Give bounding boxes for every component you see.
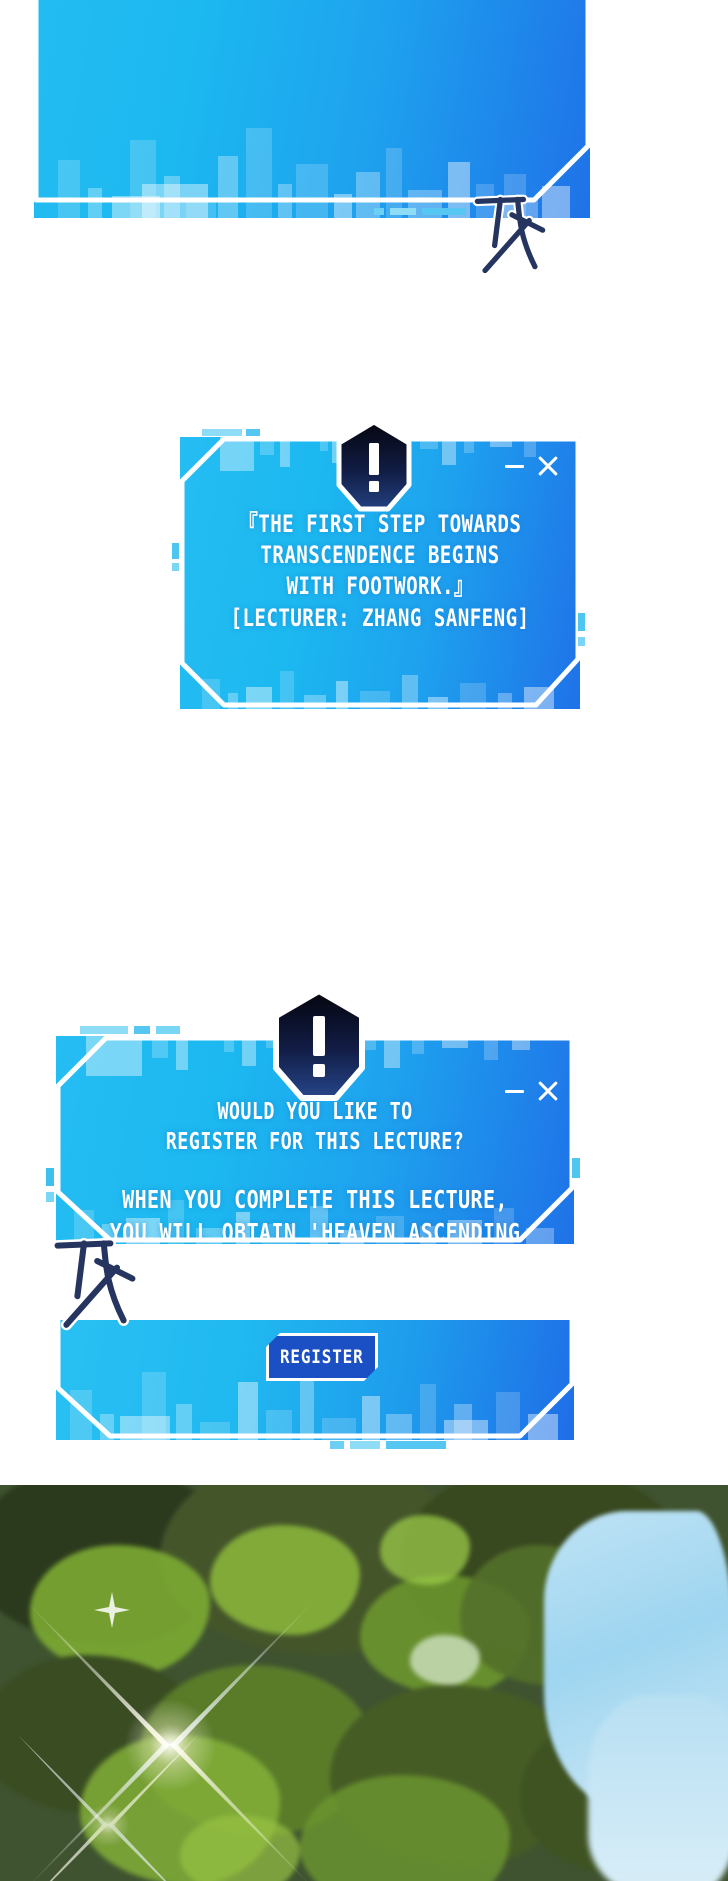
- panel3-window-controls[interactable]: [505, 1080, 559, 1102]
- panel2-line-2: TRANSCENDENCE BEGINS: [220, 540, 540, 571]
- frame-tick: [246, 429, 260, 436]
- comic-page: WHEN YOU COMPLETE THIS LECTURE, YOU WILL…: [0, 0, 728, 1881]
- minimize-icon[interactable]: [505, 465, 524, 468]
- frame-tick: [46, 1168, 54, 1186]
- panel2-line-1: 『THE FIRST STEP TOWARDS: [220, 509, 540, 540]
- panel2-window-controls[interactable]: [505, 455, 559, 477]
- close-icon[interactable]: [537, 455, 559, 477]
- frame-tick: [578, 613, 585, 631]
- frame-tick: [390, 208, 416, 215]
- register-button-label: REGISTER: [280, 1346, 364, 1368]
- forest-canopy-photo: [0, 1485, 728, 1881]
- frame-tick: [330, 1441, 344, 1449]
- panel2-text: 『THE FIRST STEP TOWARDS TRANSCENDENCE BE…: [220, 509, 540, 634]
- frame-tick: [172, 543, 179, 559]
- sky-gap-lower: [588, 1695, 728, 1881]
- artist-signature-bottom: [40, 1228, 150, 1338]
- frame-tick: [80, 1026, 128, 1034]
- frame-tick: [578, 637, 585, 646]
- panel2-line-4: [LECTURER: ZHANG SANFENG]: [220, 603, 540, 634]
- frame-tick: [202, 429, 242, 436]
- panel3-question-line-1: WOULD YOU LIKE TO: [108, 1098, 522, 1128]
- panel3-question-line-2: REGISTER FOR THIS LECTURE?: [108, 1128, 522, 1158]
- panel3-question: WOULD YOU LIKE TO REGISTER FOR THIS LECT…: [108, 1098, 522, 1158]
- panel3-reward-line-1: WHEN YOU COMPLETE THIS LECTURE,: [108, 1184, 522, 1217]
- artist-signature-top: [462, 186, 558, 282]
- exclamation-hexagon-icon: [333, 419, 415, 513]
- frame-tick: [422, 208, 466, 215]
- frame-tick: [46, 1192, 54, 1202]
- frame-tick: [386, 1441, 446, 1449]
- frame-tick: [172, 563, 179, 571]
- frame-tick: [134, 1026, 150, 1034]
- exclamation-hexagon-icon: [270, 988, 368, 1102]
- panel2-line-3: WITH FOOTWORK.』: [220, 571, 540, 602]
- close-icon[interactable]: [537, 1080, 559, 1102]
- panel-gutter: [0, 1449, 728, 1485]
- panel3-reward: WHEN YOU COMPLETE THIS LECTURE, YOU WILL…: [108, 1184, 522, 1244]
- panel3-reward-line-2: YOU WILL OBTAIN 'HEAVEN ASCENDING: [108, 1217, 522, 1245]
- frame-tick: [156, 1026, 180, 1034]
- frame-tick: [350, 1441, 380, 1449]
- frame-tick: [374, 208, 384, 215]
- minimize-icon[interactable]: [505, 1090, 524, 1093]
- frame-tick: [572, 1158, 580, 1178]
- register-button-bottom[interactable]: REGISTER: [266, 1333, 378, 1381]
